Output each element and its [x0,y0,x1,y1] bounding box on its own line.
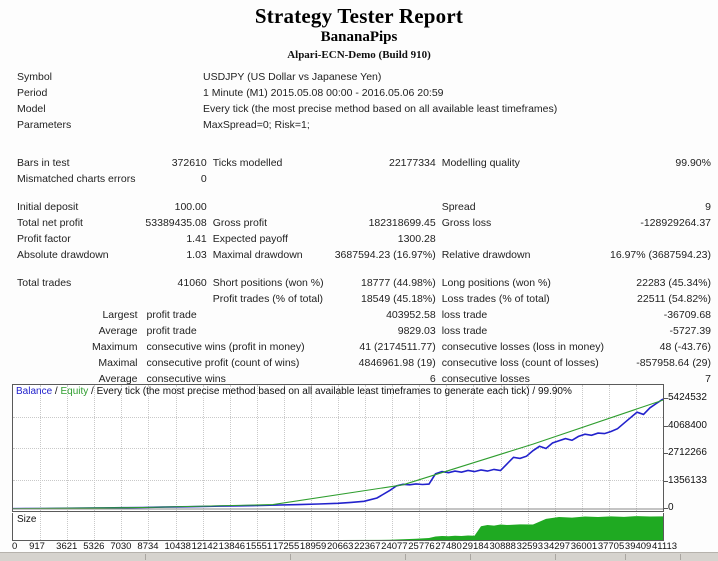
strip-cell [555,554,626,560]
y-axis-tick-label: 2712266 [668,448,707,458]
strip-cell [145,554,291,560]
stat-label-bars-in-test: Bars in test [14,155,141,171]
stat-label-initial-deposit: Initial deposit [14,199,141,215]
stat-value-total-net-profit: 53389435.08 [141,215,210,231]
stat-label-average-profit-trade: profit trade [141,323,210,339]
stat-label-average-loss-trade: loss trade [439,323,607,339]
stat-value-profit-trades: 18549 (45.18%) [331,291,439,307]
stat-label-spread: Spread [439,199,607,215]
legend-balance-label: Balance [16,386,52,397]
stat-label-mismatched-charts-errors: Mismatched charts errors [14,171,141,187]
strip-cell [405,554,471,560]
stat-label-relative-drawdown: Relative drawdown [439,247,607,263]
stat-group-maximum: Maximum [14,339,141,355]
server-name: Alpari-ECN-Demo (Build 910) [0,47,718,63]
stat-label-long-positions: Long positions (won %) [439,275,607,291]
size-subchart-label: Size [17,514,36,525]
legend-model-description: Every tick (the most precise method base… [97,386,572,397]
stat-label-profit-factor: Profit factor [14,231,141,247]
table-row: Profit factor 1.41 Expected payoff 1300.… [14,231,714,247]
stat-value-max-consecutive-losses: 48 (-43.76) [607,339,714,355]
table-row: Total net profit 53389435.08 Gross profi… [14,215,714,231]
stat-group-maximal: Maximal [14,355,141,371]
legend-equity-label: Equity [60,386,88,397]
table-row: Average profit trade 9829.03 loss trade … [14,323,714,339]
stat-label-total-trades: Total trades [14,275,141,291]
size-subchart-series [13,513,663,540]
info-label-parameters: Parameters [14,117,200,133]
stat-label-modelling-quality: Modelling quality [439,155,607,171]
table-row: Model Every tick (the most precise metho… [14,101,714,117]
legend-separator-2: / [88,386,96,397]
chart-y-axis: 01356133271226640684005424532 [664,384,718,512]
stat-value-expected-payoff: 1300.28 [331,231,439,247]
stat-label-maximal-drawdown: Maximal drawdown [210,247,331,263]
stat-label-max-consecutive-losses: consecutive losses (loss in money) [439,339,607,355]
stat-label-maximal-consecutive-loss: consecutive loss (count of losses) [439,355,607,371]
page-title: Strategy Tester Report [0,4,718,28]
table-row: Mismatched charts errors 0 [14,171,714,187]
table-row: Largest profit trade 403952.58 loss trad… [14,307,714,323]
info-value-model: Every tick (the most precise method base… [200,101,714,117]
stat-label-total-net-profit: Total net profit [14,215,141,231]
stat-value-gross-profit: 182318699.45 [331,215,439,231]
stat-label-profit-trades: Profit trades (% of total) [210,291,331,307]
gridline-horizontal [13,511,663,512]
stat-label-loss-trades: Loss trades (% of total) [439,291,607,307]
table-row: Parameters MaxSpread=0; Risk=1; [14,117,714,133]
table-row: Absolute drawdown 1.03 Maximal drawdown … [14,247,714,263]
strip-cell [625,554,681,560]
stat-value-largest-profit-trade: 403952.58 [331,307,439,323]
stat-value-profit-factor: 1.41 [141,231,210,247]
stat-label-gross-profit: Gross profit [210,215,331,231]
stat-value-largest-loss-trade: -36709.68 [607,307,714,323]
table-row: Maximum consecutive wins (profit in mone… [14,339,714,355]
stat-label-short-positions: Short positions (won %) [210,275,331,291]
strategy-tester-report-page: Strategy Tester Report BananaPips Alpari… [0,0,718,560]
stat-value-gross-loss: -128929264.37 [607,215,714,231]
y-axis-tick-label: 1356133 [668,476,707,486]
chart-series-layer [13,385,663,511]
stat-value-absolute-drawdown: 1.03 [141,247,210,263]
stat-value-ticks-modelled: 22177334 [331,155,439,171]
series-line-equity [13,400,663,509]
info-label-period: Period [14,85,200,101]
info-value-parameters: MaxSpread=0; Risk=1; [200,117,714,133]
size-subchart: Size [12,513,664,541]
table-row: Symbol USDJPY (US Dollar vs Japanese Yen… [14,69,714,85]
stat-label-absolute-drawdown: Absolute drawdown [14,247,141,263]
stat-value-mismatched-charts-errors: 0 [141,171,210,187]
stat-label-largest-profit-trade: profit trade [141,307,210,323]
stat-value-average-loss-trade: -5727.39 [607,323,714,339]
table-row: Initial deposit 100.00 Spread 9 [14,199,714,215]
stat-value-modelling-quality: 99.90% [607,155,714,171]
info-label-symbol: Symbol [14,69,200,85]
expert-name: BananaPips [0,28,718,47]
stat-label-gross-loss: Gross loss [439,215,607,231]
stat-value-long-positions: 22283 (45.34%) [607,275,714,291]
stat-value-relative-drawdown: 16.97% (3687594.23) [607,247,714,263]
report-header: Strategy Tester Report BananaPips Alpari… [0,0,718,63]
strip-cell [40,554,146,560]
info-label-model: Model [14,101,200,117]
table-row: Profit trades (% of total) 18549 (45.18%… [14,291,714,307]
table-row: Total trades 41060 Short positions (won … [14,275,714,291]
y-axis-tick-label: 5424532 [668,393,707,403]
y-axis-tick-label: 0 [668,503,674,513]
table-row: Maximal consecutive profit (count of win… [14,355,714,371]
stat-label-largest-loss-trade: loss trade [439,307,607,323]
stat-label-max-consecutive-wins: consecutive wins (profit in money) [141,339,331,355]
stat-value-maximal-consecutive-profit: 4846961.98 (19) [331,355,439,371]
stat-value-short-positions: 18777 (44.98%) [331,275,439,291]
chart-legend: Balance / Equity / Every tick (the most … [16,386,572,398]
table-row: Bars in test 372610 Ticks modelled 22177… [14,155,714,171]
chart-plot-area: Balance / Equity / Every tick (the most … [12,384,664,512]
report-statistics-table: Bars in test 372610 Ticks modelled 22177… [14,143,714,387]
size-area [13,516,663,540]
stat-value-spread: 9 [607,199,714,215]
stat-group-largest: Largest [14,307,141,323]
report-info-table: Symbol USDJPY (US Dollar vs Japanese Yen… [14,69,714,133]
stat-value-max-consecutive-wins: 41 (2174511.77) [331,339,439,355]
stat-value-loss-trades: 22511 (54.82%) [607,291,714,307]
series-line-balance [13,399,663,509]
stat-group-average: Average [14,323,141,339]
stat-value-maximal-consecutive-loss: -857958.64 (29) [607,355,714,371]
strip-cell [290,554,406,560]
stat-label-ticks-modelled: Ticks modelled [210,155,331,171]
info-value-period: 1 Minute (M1) 2015.05.08 00:00 - 2016.05… [200,85,714,101]
stat-value-initial-deposit: 100.00 [141,199,210,215]
stat-value-average-profit-trade: 9829.03 [331,323,439,339]
stat-value-bars-in-test: 372610 [141,155,210,171]
gridline-vertical [663,513,664,540]
y-axis-tick-label: 4068400 [668,421,707,431]
strip-cell [470,554,556,560]
table-row: Period 1 Minute (M1) 2015.05.08 00:00 - … [14,85,714,101]
stat-label-maximal-consecutive-profit: consecutive profit (count of wins) [141,355,331,371]
stat-label-expected-payoff: Expected payoff [210,231,331,247]
stat-value-total-trades: 41060 [141,275,210,291]
stat-value-maximal-drawdown: 3687594.23 (16.97%) [331,247,439,263]
info-value-symbol: USDJPY (US Dollar vs Japanese Yen) [200,69,714,85]
